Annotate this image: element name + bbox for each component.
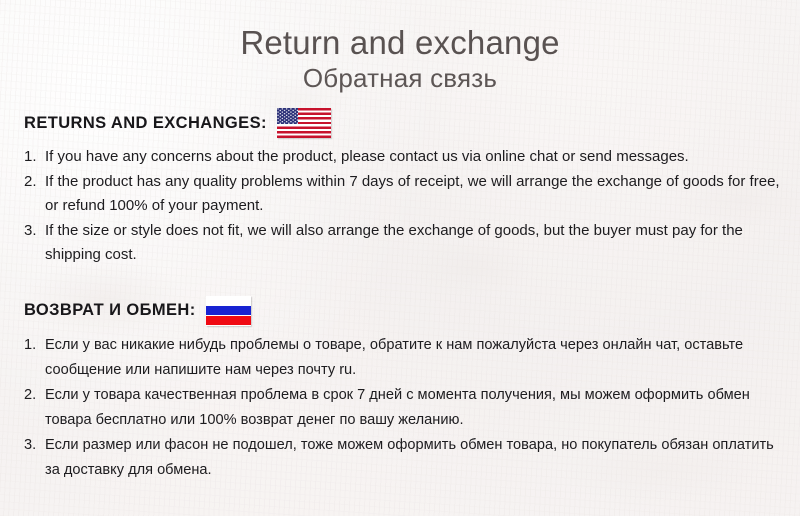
list-item: 2. If the product has any quality proble… bbox=[24, 170, 782, 219]
list-item-text: Если у товара качественная проблема в ср… bbox=[45, 383, 782, 433]
page-title-russian: Обратная связь bbox=[0, 62, 800, 94]
section-returns-and-exchanges-english: RETURNS AND EXCHANGES: 1. If you have an… bbox=[0, 108, 800, 268]
returns-policy-list-english: 1. If you have any concerns about the pr… bbox=[24, 145, 782, 268]
list-item-text: Если у вас никакие нибудь проблемы о тов… bbox=[45, 333, 782, 383]
list-item-number: 3. bbox=[24, 433, 42, 458]
russia-flag-red-band bbox=[206, 316, 251, 326]
list-item-number: 3. bbox=[24, 219, 42, 244]
russia-flag-icon bbox=[206, 296, 251, 326]
list-item: 3. If the size or style does not fit, we… bbox=[24, 219, 782, 268]
list-item-text: Если размер или фасон не подошел, тоже м… bbox=[45, 433, 782, 483]
section-vozvrat-i-obmen-russian: ВОЗВРАТ И ОБМЕН: 1. Если у вас никакие н… bbox=[0, 296, 800, 483]
list-item-number: 2. bbox=[24, 383, 42, 408]
section-heading-label-english: RETURNS AND EXCHANGES: bbox=[24, 114, 267, 133]
page-title-english: Return and exchange bbox=[0, 24, 800, 62]
list-item-number: 1. bbox=[24, 333, 42, 358]
list-item: 1. Если у вас никакие нибудь проблемы о … bbox=[24, 333, 782, 383]
list-item-number: 1. bbox=[24, 145, 42, 170]
list-item: 3. Если размер или фасон не подошел, тож… bbox=[24, 433, 782, 483]
list-item-text: If the size or style does not fit, we wi… bbox=[45, 219, 782, 268]
list-item-text: If you have any concerns about the produ… bbox=[45, 145, 782, 170]
section-heading-label-russian: ВОЗВРАТ И ОБМЕН: bbox=[24, 301, 196, 320]
list-item: 1. If you have any concerns about the pr… bbox=[24, 145, 782, 170]
list-item: 2. Если у товара качественная проблема в… bbox=[24, 383, 782, 433]
russia-flag-white-band bbox=[206, 296, 251, 306]
list-item-number: 2. bbox=[24, 170, 42, 195]
return-and-exchange-document: Return and exchange Обратная связь RETUR… bbox=[0, 0, 800, 516]
section-heading-english: RETURNS AND EXCHANGES: bbox=[24, 108, 782, 138]
returns-policy-list-russian: 1. Если у вас никакие нибудь проблемы о … bbox=[24, 333, 782, 483]
section-heading-russian: ВОЗВРАТ И ОБМЕН: bbox=[24, 296, 782, 326]
list-item-text: If the product has any quality problems … bbox=[45, 170, 782, 219]
us-flag-stars bbox=[277, 108, 299, 124]
russia-flag-blue-band bbox=[206, 306, 251, 316]
document-titles: Return and exchange Обратная связь bbox=[0, 0, 800, 94]
us-flag-icon bbox=[277, 108, 331, 138]
